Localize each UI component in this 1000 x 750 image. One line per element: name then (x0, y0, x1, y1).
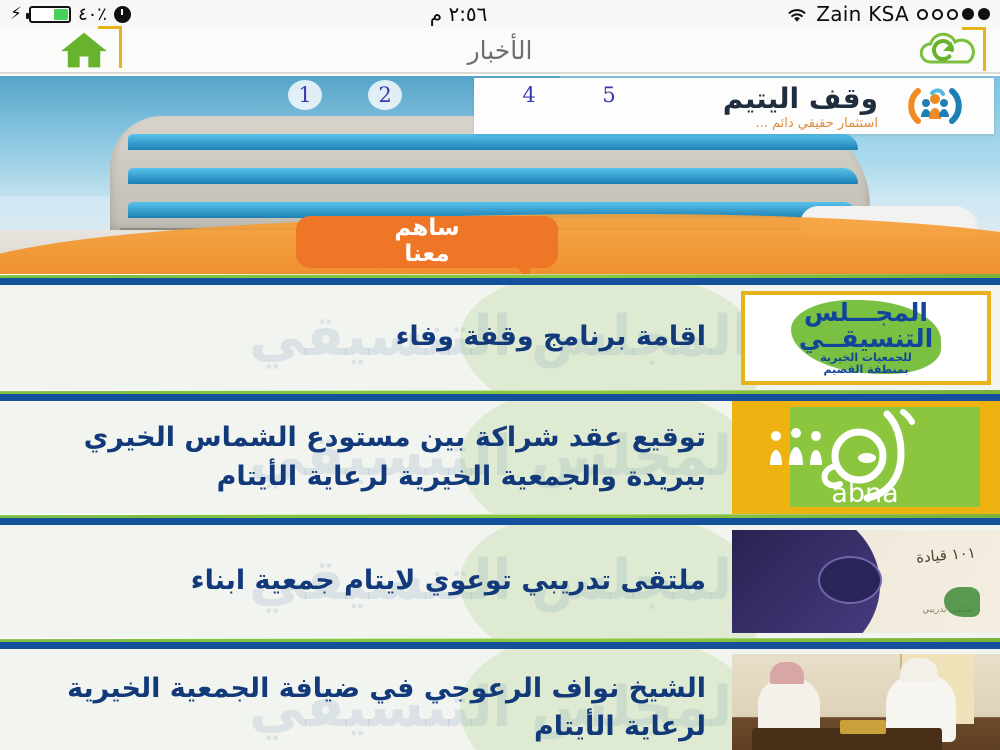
news-item[interactable]: المجلس التنسيقي الشيخ نواف الرعوجي في ضي… (0, 649, 1000, 750)
majlis-logo-art: المجـــلس التنسيقــي للجمعيات الخيرية بم… (741, 291, 991, 385)
carousel-dot-2[interactable]: 2 (368, 80, 402, 110)
carousel-dot-5[interactable]: 5 (592, 80, 626, 110)
promo-banner-carousel[interactable]: وقف اليتيم استثمار حقيقي دائم ... 1 2 4 … (0, 76, 1000, 274)
majlis-logo-line4: بمنطقة القصيم (799, 364, 933, 376)
majlis-logo-line2: التنسيقــي (799, 326, 933, 352)
training-poster-art: ١٠١ قيادة ملتقى تدريبي (732, 530, 1000, 633)
news-headline[interactable]: توقيع عقد شراكة بين مستودع الشماس الخيري… (0, 401, 732, 514)
app-bar-left (0, 29, 200, 71)
abna-wordmark-icon: abna (791, 408, 941, 508)
alarm-clock-icon (114, 6, 131, 23)
thumbnail-meeting-photo (732, 649, 1000, 750)
news-headline[interactable]: اقامة برنامج وقفة وفاء (0, 285, 732, 390)
app-screen: ⚡ ٤٠٪ ٢:٥٦ م Zain KSA (0, 0, 1000, 750)
list-divider (0, 638, 1000, 649)
carousel-dot-1[interactable]: 1 (288, 80, 322, 110)
status-bar-right: Zain KSA (786, 2, 990, 26)
battery-icon (29, 6, 71, 23)
gold-corner-bracket (98, 26, 122, 68)
carousel-dot-4[interactable]: 4 (512, 80, 546, 110)
news-list[interactable]: المجلس التنسيقي المجـــلس التنسيقــي للج… (0, 274, 1000, 750)
status-bar-clock: ٢:٥٦ م (430, 2, 488, 26)
majlis-logo-line1: المجـــلس (799, 300, 933, 326)
carousel-pagination: 1 2 4 5 (0, 78, 1000, 112)
battery-percent-label: ٤٠٪ (78, 4, 107, 25)
svg-text:abna: abna (831, 478, 898, 508)
news-item[interactable]: المجلس التنسيقي المجـــلس التنسيقــي للج… (0, 285, 1000, 390)
palm-emblem-icon (944, 587, 980, 617)
status-bar-left: ⚡ ٤٠٪ (10, 4, 131, 25)
bolt-icon: ⚡ (10, 6, 22, 23)
list-divider-top (0, 274, 1000, 285)
thumbnail-training-poster: ١٠١ قيادة ملتقى تدريبي (732, 525, 1000, 638)
battery-fill (54, 9, 68, 20)
news-item[interactable]: المجلس التنسيقي a (0, 401, 1000, 514)
meeting-photo-art (732, 654, 1000, 750)
list-divider (0, 390, 1000, 401)
home-icon[interactable] (58, 29, 110, 71)
status-bar: ⚡ ٤٠٪ ٢:٥٦ م Zain KSA (0, 0, 1000, 28)
page-title: الأخبار (200, 36, 800, 65)
app-bar: الأخبار (0, 28, 1000, 74)
thumbnail-majlis-logo: المجـــلس التنسيقــي للجمعيات الخيرية بم… (732, 285, 1000, 390)
banner-logo-subtitle: استثمار حقيقي دائم ... (755, 116, 878, 131)
news-headline[interactable]: الشيخ نواف الرعوجي في ضيافة الجمعية الخي… (0, 649, 732, 750)
contribute-button-line1: ساهم (394, 216, 459, 242)
app-bar-right (800, 31, 1000, 69)
news-headline[interactable]: ملتقى تدريبي توعوي لايتام جمعية ابناء (0, 525, 732, 638)
signal-strength-icon (917, 8, 990, 20)
thumbnail-abna-logo: abna (732, 401, 1000, 514)
status-bar-center: ٢:٥٦ م (131, 2, 786, 26)
contribute-button[interactable]: ساهم معنا (296, 216, 558, 268)
list-divider (0, 514, 1000, 525)
gold-corner-bracket (962, 27, 986, 71)
news-item[interactable]: المجلس التنسيقي ١٠١ قيادة ملتقى تدريبي م… (0, 525, 1000, 638)
abna-logo-art: abna (732, 401, 1000, 514)
contribute-button-line2: معنا (404, 242, 449, 268)
carrier-label: Zain KSA (816, 2, 909, 26)
cloud-refresh-icon[interactable] (916, 31, 980, 69)
poster-title: ١٠١ قيادة (916, 543, 977, 566)
wifi-icon (786, 6, 808, 22)
